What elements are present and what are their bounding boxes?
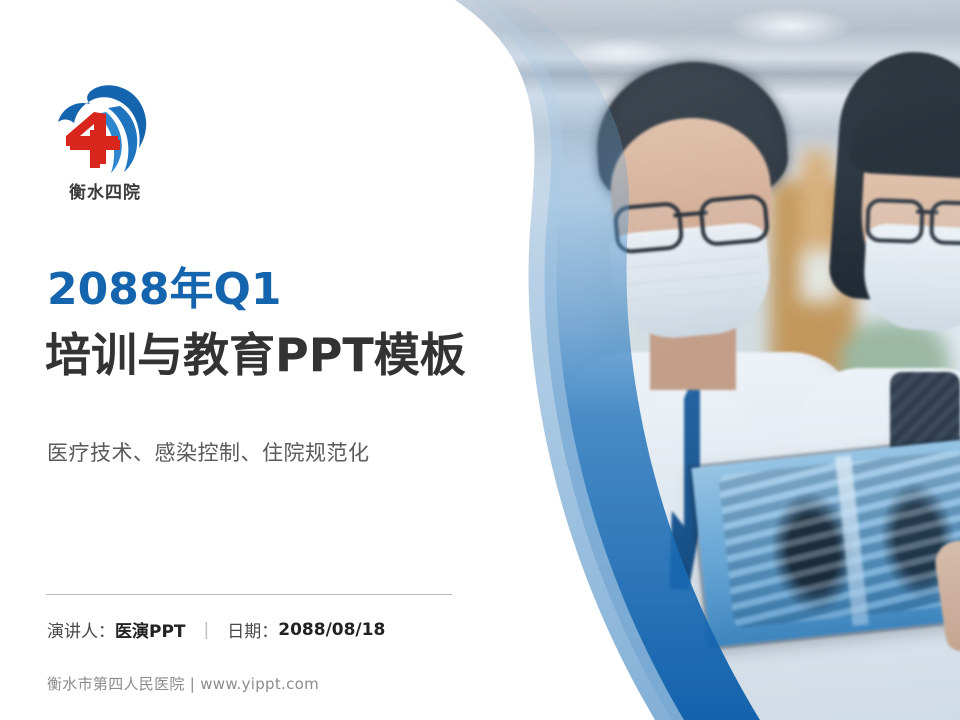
hospital-logo: 衡水四院 bbox=[46, 78, 176, 208]
title-year-line: 2088年Q1 bbox=[47, 268, 281, 312]
speaker-value: 医演PPT bbox=[115, 617, 186, 642]
hospital-logo-icon bbox=[46, 78, 164, 180]
meta-divider-rule bbox=[46, 594, 452, 595]
hospital-logo-caption: 衡水四院 bbox=[46, 178, 164, 203]
meta-row: 演讲人： 医演PPT | 日期： 2088/08/18 bbox=[47, 617, 385, 642]
meta-separator: | bbox=[204, 620, 210, 640]
footer-credit: 衡水市第四人民医院 | www.yippt.com bbox=[47, 673, 319, 694]
page-subtitle: 医疗技术、感染控制、住院规范化 bbox=[47, 437, 370, 467]
presentation-cover-slide: 衡水四院 2088年Q1 培训与教育PPT模板 医疗技术、感染控制、住院规范化 … bbox=[0, 0, 960, 720]
page-title: 培训与教育PPT模板 bbox=[45, 332, 466, 378]
logo-cross-horizontal bbox=[70, 140, 120, 150]
cover-text-panel: 衡水四院 2088年Q1 培训与教育PPT模板 医疗技术、感染控制、住院规范化 … bbox=[0, 0, 520, 720]
date-value: 2088/08/18 bbox=[278, 620, 385, 640]
speaker-label: 演讲人： bbox=[47, 617, 115, 642]
date-label: 日期： bbox=[227, 617, 278, 642]
